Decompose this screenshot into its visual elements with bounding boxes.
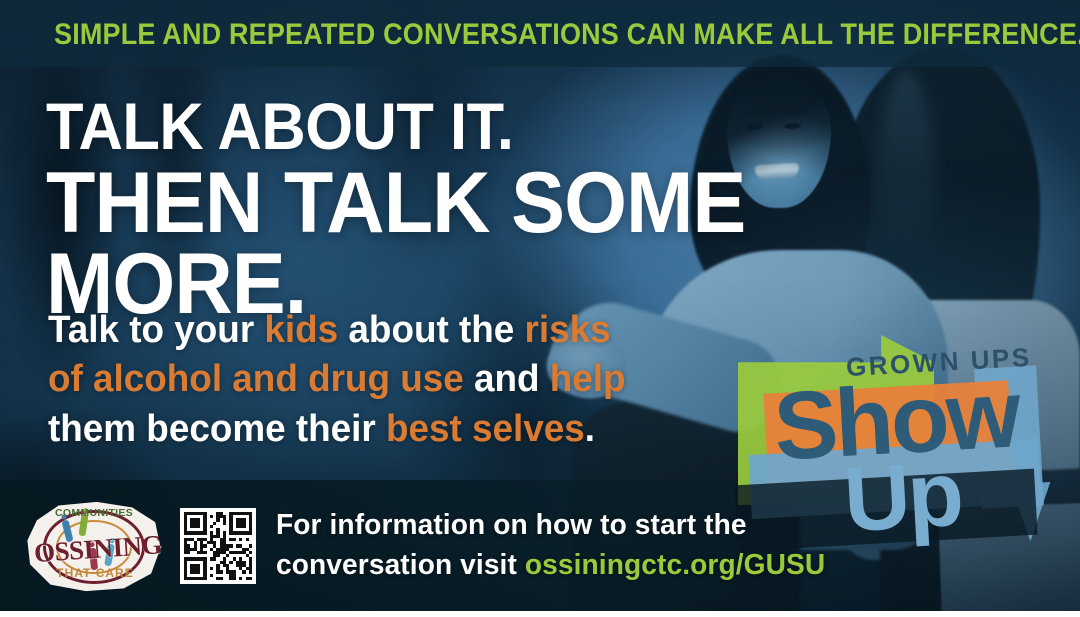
- body-copy-highlight-best-selves: best selves: [386, 408, 585, 450]
- qr-code[interactable]: [180, 508, 256, 584]
- qr-code-matrix: [184, 512, 252, 580]
- communities-that-care-logo: COMMUNITIES OSSINING THAT CARE: [26, 500, 162, 592]
- logo-up-text: Up: [842, 448, 964, 546]
- cta-text: For information on how to start the conv…: [276, 505, 825, 585]
- ctc-logo-bottom-arc-text: THAT CARE: [48, 566, 142, 580]
- cta-url-link[interactable]: ossiningctc.org/GUSU: [525, 549, 825, 581]
- top-banner: SIMPLE AND REPEATED CONVERSATIONS CAN MA…: [0, 0, 1080, 67]
- body-copy-highlight-help: help: [550, 358, 626, 400]
- body-copy-seg-4: them become their: [48, 408, 386, 450]
- top-banner-text: SIMPLE AND REPEATED CONVERSATIONS CAN MA…: [54, 18, 1026, 50]
- bottom-white-frame: [0, 611, 1080, 617]
- body-copy-highlight-substances: of alcohol and drug use: [48, 358, 464, 400]
- body-copy-seg-1: Talk to your: [48, 309, 264, 351]
- headline-line-2: THEN TALK SOME MORE.: [46, 163, 1018, 326]
- cta-line-2-prefix: conversation visit: [276, 549, 525, 581]
- cta-line-1: For information on how to start the: [276, 505, 825, 545]
- body-copy-highlight-risks: risks: [525, 309, 611, 351]
- body-copy: Talk to your kids about the risks of alc…: [48, 306, 649, 454]
- body-copy-seg-2: about the: [338, 309, 524, 351]
- headline-line-1: TALK ABOUT IT.: [46, 96, 1008, 157]
- body-copy-seg-5: .: [585, 408, 595, 450]
- poster-canvas: SIMPLE AND REPEATED CONVERSATIONS CAN MA…: [0, 0, 1080, 617]
- body-copy-highlight-kids: kids: [264, 309, 338, 351]
- headline-block: TALK ABOUT IT. THEN TALK SOME MORE.: [46, 96, 1080, 326]
- cta-line-2: conversation visit ossiningctc.org/GUSU: [276, 545, 825, 585]
- body-copy-seg-3: and: [464, 358, 550, 400]
